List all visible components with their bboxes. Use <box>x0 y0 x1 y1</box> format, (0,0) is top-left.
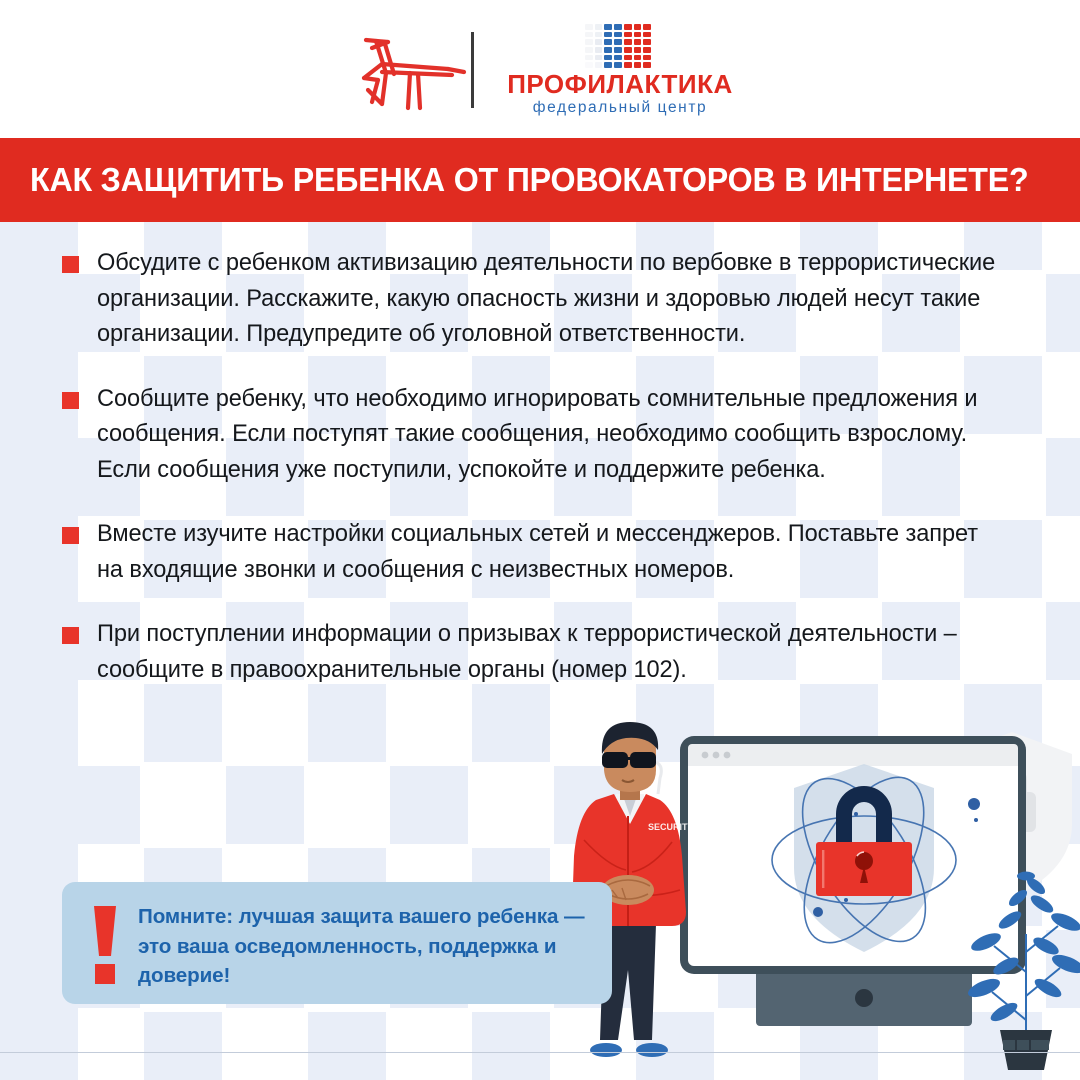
profilaktika-logo: ПРОФИЛАКТИКА федеральный центр <box>505 24 735 116</box>
exclamation-mark-icon <box>90 906 120 984</box>
background-square <box>226 766 304 844</box>
logo-grid-cell <box>585 62 593 68</box>
horse-line-art-logo <box>352 28 468 112</box>
poster-root: ПРОФИЛАКТИКА федеральный центр КАК ЗАЩИТ… <box>0 0 1080 1080</box>
logo-grid-cell <box>643 32 651 38</box>
logo-grid-cell <box>595 32 603 38</box>
logo-grid-cell <box>634 39 642 45</box>
logo-grid-cell <box>643 39 651 45</box>
red-square-bullet-icon <box>62 527 79 544</box>
logo-grid-cell <box>643 55 651 61</box>
logo-grid-cell <box>614 55 622 61</box>
title-banner: КАК ЗАЩИТИТЬ РЕБЕНКА ОТ ПРОВОКАТОРОВ В И… <box>0 138 1080 222</box>
header-bar: ПРОФИЛАКТИКА федеральный центр <box>0 0 1080 138</box>
orbit-dot <box>968 798 980 810</box>
advice-item: Сообщите ребенку, что необходимо игнорир… <box>62 382 1010 489</box>
advice-item-text: При поступлении информации о призывах к … <box>97 617 1010 688</box>
logo-grid-cell <box>595 47 603 53</box>
logo-grid-cell <box>624 39 632 45</box>
advice-item-text: Сообщите ребенку, что необходимо игнорир… <box>97 382 1010 489</box>
logo-grid-cell <box>604 62 612 68</box>
background-square <box>144 1012 222 1080</box>
brand-subtitle: федеральный центр <box>505 100 735 116</box>
red-square-bullet-icon <box>62 392 79 409</box>
background-square <box>472 684 550 762</box>
background-square <box>390 766 468 844</box>
logo-grid-cell <box>634 62 642 68</box>
logo-grid-cell <box>624 24 632 30</box>
brand-name: ПРОФИЛАКТИКА <box>505 71 735 97</box>
background-square <box>0 848 58 926</box>
orbit-dot <box>813 907 823 917</box>
grid-squares-logo <box>585 24 651 68</box>
background-square <box>62 766 140 844</box>
background-square <box>0 684 58 762</box>
floor-line <box>0 1052 1080 1053</box>
logo-grid-cell <box>595 55 603 61</box>
advice-item-text: Вместе изучите настройки социальных сете… <box>97 517 1010 588</box>
security-illustration: SECURITY <box>560 720 1080 1080</box>
logo-grid-cell <box>614 47 622 53</box>
logo-grid-cell <box>585 47 593 53</box>
red-square-bullet-icon <box>62 256 79 273</box>
logo-grid-cell <box>595 24 603 30</box>
logo-grid-cell <box>604 32 612 38</box>
background-square <box>308 684 386 762</box>
logo-grid-cell <box>585 32 593 38</box>
logo-grid-cell <box>614 39 622 45</box>
background-square <box>144 684 222 762</box>
logo-grid-cell <box>595 62 603 68</box>
orbit-dot <box>844 898 848 902</box>
logo-grid-cell <box>604 24 612 30</box>
logo-grid-cell <box>604 39 612 45</box>
callout-text: Помните: лучшая защита вашего ребенка — … <box>138 902 593 991</box>
logo-grid-cell <box>634 47 642 53</box>
logo-grid-cell <box>624 47 632 53</box>
advice-item: При поступлении информации о призывах к … <box>62 617 1010 688</box>
logo-grid-cell <box>624 32 632 38</box>
logo-grid-cell <box>634 55 642 61</box>
background-square <box>1046 602 1080 680</box>
background-square <box>1046 438 1080 516</box>
advice-item-text: Обсудите с ребенком активизацию деятельн… <box>97 246 1010 353</box>
orbit-dot <box>854 812 858 816</box>
orbit-dot <box>974 818 978 822</box>
background-square <box>1046 274 1080 352</box>
logo-grid-cell <box>624 62 632 68</box>
page-title: КАК ЗАЩИТИТЬ РЕБЕНКА ОТ ПРОВОКАТОРОВ В И… <box>30 138 1032 222</box>
background-square <box>308 1012 386 1080</box>
logo-grid-cell <box>585 39 593 45</box>
background-square <box>472 1012 550 1080</box>
logo-grid-cell <box>614 32 622 38</box>
background-square <box>0 356 58 434</box>
guard-shoe <box>636 1043 668 1057</box>
logo-grid-cell <box>624 55 632 61</box>
logo-divider <box>471 32 474 108</box>
logo-grid-cell <box>614 24 622 30</box>
logo-grid-cell <box>585 24 593 30</box>
logo-grid-cell <box>634 24 642 30</box>
logo-grid-cell <box>643 24 651 30</box>
guard-earpiece <box>656 762 661 794</box>
guard-shoe <box>590 1043 622 1057</box>
red-square-bullet-icon <box>62 627 79 644</box>
background-square <box>0 520 58 598</box>
background-square <box>0 222 58 270</box>
background-square <box>0 1012 58 1080</box>
svg-text:SECURITY: SECURITY <box>648 822 694 832</box>
remember-callout: Помните: лучшая защита вашего ребенка — … <box>62 882 612 1004</box>
logo-grid-cell <box>585 55 593 61</box>
logo-grid-cell <box>604 47 612 53</box>
advice-item: Вместе изучите настройки социальных сете… <box>62 517 1010 588</box>
logo-grid-cell <box>634 32 642 38</box>
advice-item: Обсудите с ребенком активизацию деятельн… <box>62 246 1010 353</box>
logo-grid-cell <box>604 55 612 61</box>
logo-grid-cell <box>614 62 622 68</box>
advice-list: Обсудите с ребенком активизацию деятельн… <box>62 246 1010 688</box>
logo-grid-cell <box>595 39 603 45</box>
logo-grid-cell <box>643 47 651 53</box>
logo-grid-cell <box>643 62 651 68</box>
